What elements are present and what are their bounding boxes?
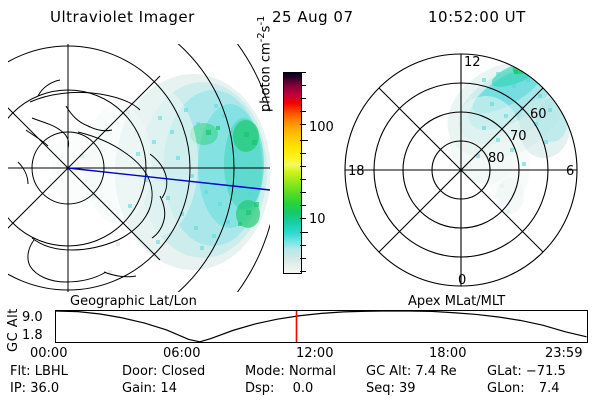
mlat-label-80: 80: [488, 151, 505, 166]
geographic-plot-svg: [8, 44, 270, 292]
time-tick-0000: 00:00: [30, 346, 67, 361]
status-flight: Flt: LBHL: [10, 364, 68, 379]
instrument-title: Ultraviolet Imager: [50, 8, 195, 26]
altitude-axis-label: GC Alt: [6, 308, 21, 352]
time-tick-0600: 06:00: [163, 346, 200, 361]
mlt-label-0: 0: [458, 273, 466, 288]
status-door: Door: Closed: [122, 364, 205, 379]
status-mode-value: Normal: [289, 364, 336, 379]
status-ip: IP: 36.0: [10, 381, 59, 396]
header-bar: Ultraviolet Imager 25 Aug 07 10:52:00 UT: [0, 6, 600, 30]
status-seq-value: 39: [399, 381, 416, 396]
geographic-projection-panel[interactable]: [8, 44, 270, 292]
status-flight-label: Flt:: [10, 364, 31, 379]
colorbar-axis-label: photon cm-2s-1: [256, 16, 273, 112]
status-glon-value: 7.4: [529, 381, 560, 396]
time-tick-2359: 23:59: [545, 346, 582, 361]
colorbar-ticks: [300, 72, 308, 272]
status-glon-label: GLon:: [487, 381, 525, 396]
status-gc-alt-label: GC Alt:: [366, 364, 411, 379]
colorbar-axis-exponent-2: -1: [256, 16, 267, 26]
status-glon: GLon: 7.4: [487, 381, 560, 396]
altitude-axis-label-text: GC Alt: [6, 308, 21, 352]
status-mode-label: Mode:: [245, 364, 285, 379]
status-flight-value: LBHL: [35, 364, 68, 379]
status-seq: Seq: 39: [366, 381, 416, 396]
status-glat-value: −71.5: [526, 364, 566, 379]
status-gc-alt-value: 7.4 Re: [415, 364, 456, 379]
status-door-value: Closed: [162, 364, 206, 379]
status-dsp: Dsp: 0.0: [245, 381, 313, 396]
mlt-spokes: [345, 54, 577, 286]
mlt-label-12: 12: [464, 55, 481, 70]
status-glat-label: GLat:: [487, 364, 522, 379]
orbit-plot-svg: [56, 311, 587, 342]
mag-aurora-layer: [431, 44, 582, 214]
orbit-altitude-strip[interactable]: GC Alt 9.0 1.8 00:00 06:00 12:00 18:00 2…: [0, 306, 600, 358]
altitude-curve: [56, 311, 587, 342]
status-gain: Gain: 14: [122, 381, 177, 396]
status-glat: GLat: −71.5: [487, 364, 566, 379]
status-gain-label: Gain:: [122, 381, 156, 396]
status-gc-alt: GC Alt: 7.4 Re: [366, 364, 457, 379]
status-seq-label: Seq:: [366, 381, 395, 396]
observation-time: 10:52:00 UT: [428, 8, 526, 26]
status-dsp-value: 0.0: [279, 381, 314, 396]
orbit-plot-box[interactable]: [55, 310, 588, 343]
altitude-tick-high: 9.0: [22, 310, 43, 325]
status-bar: Flt: LBHL Door: Closed Mode: Normal GC A…: [0, 364, 600, 398]
mlt-label-6: 6: [566, 164, 574, 179]
colorbar-axis-exponent-1: -2: [256, 32, 267, 42]
status-gain-value: 14: [160, 381, 177, 396]
time-tick-1800: 18:00: [429, 346, 466, 361]
colorbar-tick-label-10: 10: [309, 213, 326, 226]
status-ip-label: IP:: [10, 381, 26, 396]
magnetic-projection-panel[interactable]: 12 18 6 0 60 70 80: [330, 44, 592, 292]
colorbar-axis-label-mid: s: [258, 26, 273, 33]
observation-date: 25 Aug 07: [272, 8, 354, 26]
colorbar-axis-label-text: photon cm: [258, 42, 273, 112]
status-mode: Mode: Normal: [245, 364, 336, 379]
status-door-label: Door:: [122, 364, 157, 379]
magnetic-plot-svg: 12 18 6 0 60 70 80: [330, 44, 592, 292]
status-dsp-label: Dsp:: [245, 381, 274, 396]
mlat-label-70: 70: [510, 129, 527, 144]
time-tick-1200: 12:00: [296, 346, 333, 361]
status-ip-value: 36.0: [30, 381, 59, 396]
altitude-tick-low: 1.8: [22, 328, 43, 343]
mlat-label-60: 60: [530, 107, 547, 122]
colorbar-group[interactable]: 100 10 photon cm-2s-1: [270, 60, 330, 286]
mlt-label-18: 18: [348, 164, 365, 179]
